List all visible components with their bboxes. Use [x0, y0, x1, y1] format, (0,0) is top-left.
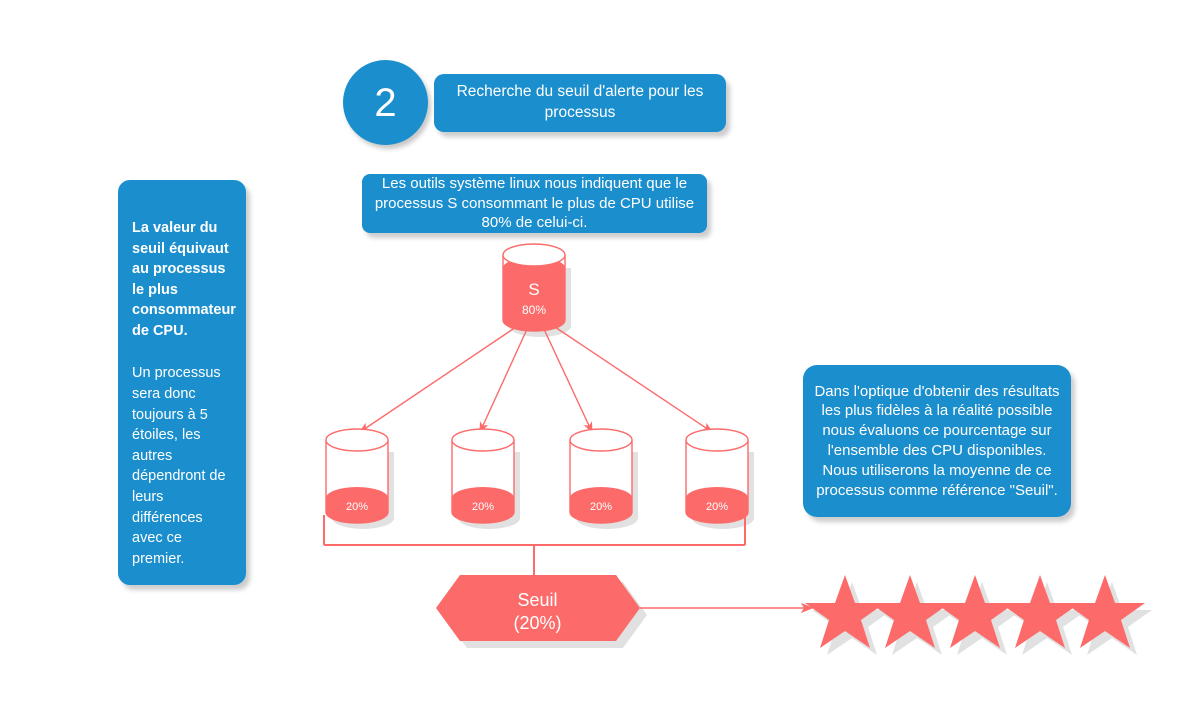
cylinder-child-4-percent: 20% [686, 501, 748, 513]
side-panel-right-text: Dans l'optique d'obtenir des résultats l… [811, 382, 1063, 501]
star-5 [1065, 575, 1145, 648]
side-panel-left-paragraph-normal: Un processus sera donc toujours à 5 étoi… [132, 363, 232, 569]
rating-stars [805, 575, 1145, 648]
step-number-badge: 2 [343, 60, 428, 145]
cylinder-child-2-percent: 20% [452, 501, 514, 513]
step-number-text: 2 [374, 83, 396, 123]
threshold-hexagon [436, 575, 640, 641]
threshold-label-group: Seuil (20%) [455, 580, 620, 643]
cylinder-child-3-labels: 20% [570, 440, 632, 516]
cylinder-child-3-percent: 20% [570, 501, 632, 513]
side-panel-right: Dans l'optique d'obtenir des résultats l… [803, 365, 1071, 517]
star-3 [935, 575, 1015, 648]
cylinder-child-4-labels: 20% [686, 440, 748, 516]
merge-bracket [324, 515, 745, 576]
info-box-top-text: Les outils système linux nous indiquent … [374, 174, 695, 233]
threshold-value: (20%) [513, 612, 561, 635]
cylinder-child-2-labels: 20% [452, 440, 514, 516]
star-4 [1000, 575, 1080, 648]
cylinder-main-labels: S 80% [503, 255, 565, 331]
cylinder-child-1-percent: 20% [326, 501, 388, 513]
cylinder-main-name: S [503, 280, 565, 300]
step-title-text: Recherche du seuil d'alerte pour les pro… [448, 82, 712, 124]
star-1 [805, 575, 885, 648]
cylinder-main-percent: 80% [503, 303, 565, 317]
side-panel-left-paragraph-bold: La valeur du seuil équivaut au processus… [132, 218, 232, 341]
threshold-label: Seuil [517, 589, 557, 612]
cylinder-child-1-labels: 20% [326, 440, 388, 516]
diagram-canvas: 2 Recherche du seuil d'alerte pour les p… [0, 0, 1178, 718]
info-box-top: Les outils système linux nous indiquent … [362, 174, 707, 233]
side-panel-left: La valeur du seuil équivaut au processus… [118, 180, 246, 585]
fanout-arrows [360, 325, 712, 432]
step-title-box: Recherche du seuil d'alerte pour les pro… [434, 74, 726, 132]
star-2 [870, 575, 950, 648]
